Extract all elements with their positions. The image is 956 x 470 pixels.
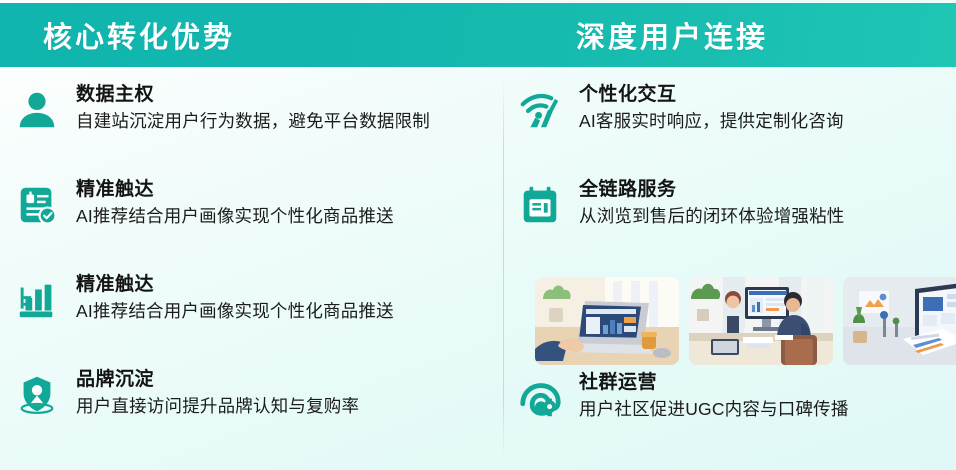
header-right-title: 深度用户连接 <box>576 14 768 56</box>
document-check-icon <box>14 180 60 230</box>
feature-title: 个性化交互 <box>579 84 677 105</box>
feature-item[interactable]: 精准触达 AI推荐结合用户画像实现个性化商品推送 <box>14 176 495 271</box>
feature-item[interactable]: 个性化交互 AI客服实时响应，提供定制化咨询 <box>517 81 946 176</box>
feature-desc: AI推荐结合用户画像实现个性化商品推送 <box>76 300 394 323</box>
feature-item[interactable]: 品牌沉淀 用户直接访问提升品牌认知与复购率 <box>14 366 495 461</box>
feature-title: 精准触达 <box>76 179 154 200</box>
feature-text: 数据主权 自建站沉淀用户行为数据，避免平台数据限制 <box>76 81 430 133</box>
feature-title: 社群运营 <box>579 372 657 393</box>
community-icon <box>517 373 563 423</box>
feature-desc: AI推荐结合用户画像实现个性化商品推送 <box>76 205 394 228</box>
feature-title: 精准触达 <box>76 274 154 295</box>
user-icon <box>14 85 60 135</box>
feature-item[interactable]: 社群运营 用户社区促进UGC内容与口碑传播 <box>517 369 946 464</box>
feature-text: 品牌沉淀 用户直接访问提升品牌认知与复购率 <box>76 366 359 418</box>
feature-text: 精准触达 AI推荐结合用户画像实现个性化商品推送 <box>76 271 394 323</box>
feature-desc: 用户直接访问提升品牌认知与复购率 <box>76 395 359 418</box>
slide-root: 核心转化优势 深度用户连接 数据主权 自建站沉淀用户行为数据，避免平台数据限制 <box>0 0 956 470</box>
feature-desc: 从浏览到售后的闭环体验增强粘性 <box>579 205 845 228</box>
header-left-section: 核心转化优势 <box>0 14 478 56</box>
photo-laptop-dashboard[interactable] <box>535 277 679 365</box>
header-left-title: 核心转化优势 <box>43 14 235 56</box>
feature-desc: AI客服实时响应，提供定制化咨询 <box>579 110 844 133</box>
feature-text: 个性化交互 AI客服实时响应，提供定制化咨询 <box>579 81 844 133</box>
header-right-section: 深度用户连接 <box>478 14 956 56</box>
photo-team-meeting[interactable] <box>689 277 833 365</box>
feature-text: 精准触达 AI推荐结合用户画像实现个性化商品推送 <box>76 176 394 228</box>
feature-title: 全链路服务 <box>579 179 677 200</box>
feature-title: 数据主权 <box>76 84 154 105</box>
feature-item[interactable]: 精准触达 AI推荐结合用户画像实现个性化商品推送 <box>14 271 495 366</box>
wifi-signal-icon <box>517 85 563 135</box>
header-banner: 核心转化优势 深度用户连接 <box>0 3 956 67</box>
feature-desc: 用户社区促进UGC内容与口碑传播 <box>579 398 849 421</box>
left-column: 数据主权 自建站沉淀用户行为数据，避免平台数据限制 <box>0 67 503 470</box>
content-columns: 数据主权 自建站沉淀用户行为数据，避免平台数据限制 <box>0 67 956 470</box>
feature-text: 社群运营 用户社区促进UGC内容与口碑传播 <box>579 369 849 421</box>
feature-title: 品牌沉淀 <box>76 369 154 390</box>
feature-text: 全链路服务 从浏览到售后的闭环体验增强粘性 <box>579 176 845 228</box>
calendar-service-icon <box>517 180 563 230</box>
location-shield-icon <box>14 370 60 420</box>
photo-desk-monitor[interactable] <box>843 277 956 365</box>
feature-desc: 自建站沉淀用户行为数据，避免平台数据限制 <box>76 110 430 133</box>
right-column: 个性化交互 AI客服实时响应，提供定制化咨询 <box>503 67 956 470</box>
feature-item[interactable]: 全链路服务 从浏览到售后的闭环体验增强粘性 <box>517 176 946 271</box>
bar-chart-icon <box>14 275 60 325</box>
feature-item[interactable]: 数据主权 自建站沉淀用户行为数据，避免平台数据限制 <box>14 81 495 176</box>
photo-strip <box>535 277 946 365</box>
